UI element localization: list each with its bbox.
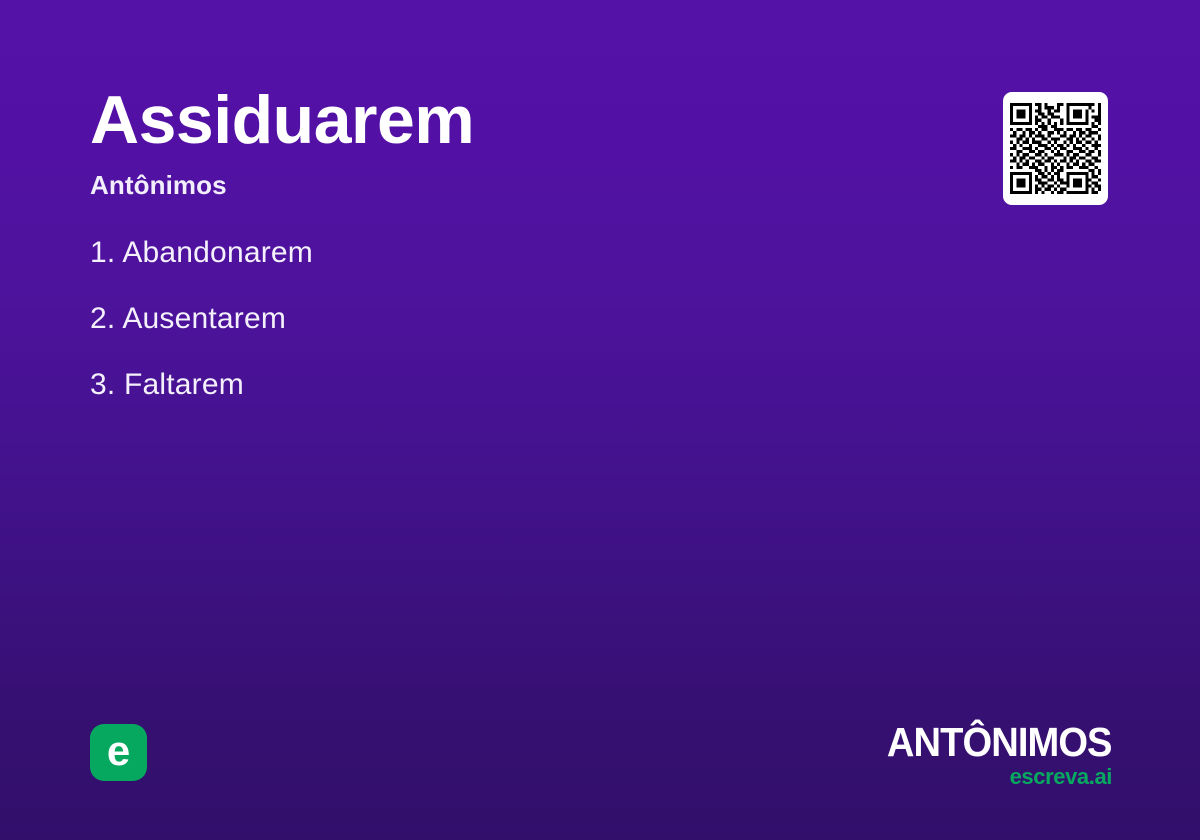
list-item-label: Faltarem <box>124 368 244 401</box>
brand-lockup: ANTÔNIMOS escreva.ai <box>870 722 1112 788</box>
header: Assiduarem Antônimos <box>90 86 474 198</box>
antonyms-list: 1. Abandonarem 2. Ausentarem 3. Faltarem <box>90 238 313 400</box>
antonyms-card: Assiduarem Antônimos 1. Abandonarem 2. A… <box>0 0 1200 840</box>
brand-title: ANTÔNIMOS <box>887 722 1112 763</box>
list-item-index: 2. <box>90 302 115 335</box>
qr-code-card[interactable] <box>1003 92 1108 205</box>
brand-subtitle: escreva.ai <box>870 766 1112 788</box>
list-item-index: 1. <box>90 236 115 269</box>
page-title: Assiduarem <box>90 86 474 154</box>
page-subtitle: Antônimos <box>90 172 474 198</box>
list-item-label: Abandonarem <box>122 236 313 269</box>
list-item: 2. Ausentarem <box>90 304 313 334</box>
app-badge-letter: e <box>90 724 147 781</box>
escreva-app-icon[interactable]: e <box>90 724 147 781</box>
qr-code-icon <box>1010 100 1101 197</box>
list-item-label: Ausentarem <box>122 302 286 335</box>
list-item: 3. Faltarem <box>90 370 313 400</box>
list-item: 1. Abandonarem <box>90 238 313 268</box>
list-item-index: 3. <box>90 368 115 401</box>
